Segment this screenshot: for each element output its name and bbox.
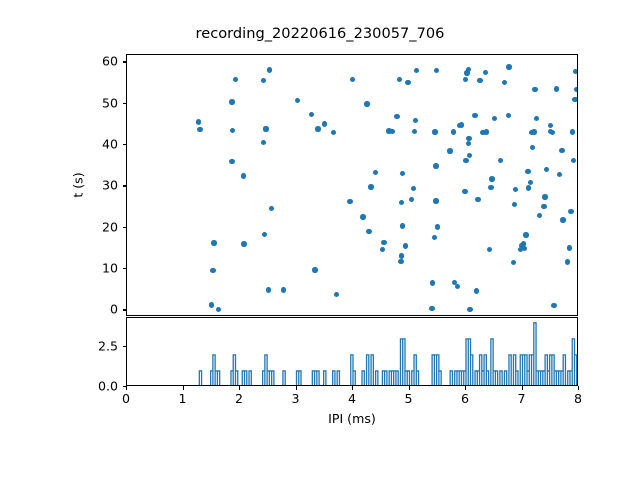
x-axis-tick-label: 1 (178, 391, 186, 406)
scatter-point (483, 70, 488, 75)
scatter-point (411, 186, 416, 191)
scatter-point (413, 118, 418, 123)
scatter-point (487, 247, 492, 252)
scatter-point (281, 287, 286, 292)
scatter-point (572, 97, 577, 102)
scatter-point (295, 98, 300, 103)
scatter-point (315, 126, 320, 131)
scatter-point (211, 240, 216, 245)
scatter-point (489, 176, 494, 181)
scatter-point (390, 129, 395, 134)
scatter-point (466, 67, 471, 72)
scatter-point (433, 163, 438, 168)
scatter-point (403, 243, 408, 248)
scatter-point (397, 77, 402, 82)
scatter-point (467, 307, 472, 312)
scatter-point (472, 113, 477, 118)
scatter-point (522, 246, 527, 251)
scatter-point (550, 130, 555, 135)
scatter-point (573, 69, 578, 74)
scatter-point (492, 116, 497, 121)
scatter-point (380, 247, 385, 252)
scatter-point (360, 214, 365, 219)
x-axis-tick-label: 4 (348, 391, 356, 406)
scatter-point (334, 292, 339, 297)
scatter-point (394, 114, 399, 119)
y-axis-tick-label: 20 (66, 219, 118, 234)
tick-mark (465, 386, 466, 390)
scatter-point (216, 307, 221, 312)
scatter-plot-axes (126, 54, 578, 316)
scatter-point (266, 287, 271, 292)
histogram-step-line (127, 318, 578, 386)
scatter-point (433, 198, 438, 203)
scatter-point (261, 140, 266, 145)
scatter-point (462, 189, 467, 194)
tick-mark (296, 386, 297, 390)
tick-mark (352, 386, 353, 390)
scatter-point (560, 217, 565, 222)
scatter-point (574, 87, 578, 92)
scatter-point (364, 101, 369, 106)
scatter-point (488, 185, 493, 190)
scatter-point (466, 136, 471, 141)
scatter-point (557, 172, 562, 177)
tick-mark (578, 386, 579, 390)
scatter-point (541, 204, 546, 209)
x-axis-label: IPI (ms) (328, 411, 376, 426)
scatter-point (463, 77, 468, 82)
scatter-point (350, 77, 355, 82)
scatter-point (559, 148, 564, 153)
scatter-point (400, 223, 405, 228)
scatter-point (502, 80, 507, 85)
y-axis-tick-label: 60 (66, 54, 118, 69)
tick-mark (183, 386, 184, 390)
scatter-point (459, 122, 464, 127)
x-axis-tick-label: 5 (404, 391, 412, 406)
scatter-point (312, 267, 317, 272)
scatter-point (542, 194, 547, 199)
y-axis-tick-label: 2.5 (66, 338, 118, 353)
y-axis-tick-label: 0.0 (66, 379, 118, 394)
tick-mark (123, 227, 127, 228)
scatter-point (430, 280, 435, 285)
scatter-point (571, 158, 576, 163)
tick-mark (123, 185, 127, 186)
scatter-point (467, 153, 472, 158)
scatter-point (398, 259, 403, 264)
scatter-point (241, 173, 246, 178)
scatter-point (269, 206, 274, 211)
scatter-point (241, 241, 246, 246)
scatter-point (229, 99, 234, 104)
scatter-point (233, 77, 238, 82)
scatter-point (567, 245, 572, 250)
scatter-point (551, 303, 556, 308)
scatter-point (267, 67, 272, 72)
scatter-point (429, 306, 434, 311)
scatter-point (532, 87, 537, 92)
scatter-point (412, 129, 417, 134)
scatter-point (400, 171, 405, 176)
scatter-point (477, 78, 482, 83)
scatter-point (434, 68, 439, 73)
scatter-point (474, 288, 479, 293)
scatter-point (451, 129, 456, 134)
scatter-point (528, 180, 533, 185)
x-axis-tick-label: 2 (235, 391, 243, 406)
scatter-point (347, 199, 352, 204)
scatter-point (373, 170, 378, 175)
y-axis-label: t (s) (71, 172, 86, 197)
tick-mark (409, 386, 410, 390)
scatter-point (537, 213, 542, 218)
tick-mark (123, 103, 127, 104)
scatter-point (447, 148, 452, 153)
tick-mark (123, 144, 127, 145)
scatter-point (463, 158, 468, 163)
scatter-point (368, 184, 373, 189)
scatter-point (262, 232, 267, 237)
scatter-point (432, 129, 437, 134)
scatter-point (530, 145, 535, 150)
tick-mark (126, 386, 127, 390)
tick-mark (239, 386, 240, 390)
scatter-point (230, 128, 235, 133)
scatter-point (525, 169, 530, 174)
scatter-point (512, 202, 517, 207)
y-axis-tick-label: 10 (66, 261, 118, 276)
scatter-point (197, 127, 202, 132)
tick-mark (123, 309, 127, 310)
y-axis-tick-label: 40 (66, 137, 118, 152)
scatter-point (554, 86, 559, 91)
tick-mark (123, 268, 127, 269)
scatter-point (475, 197, 480, 202)
x-axis-tick-label: 3 (291, 391, 299, 406)
scatter-point (498, 158, 503, 163)
x-axis-tick-label: 0 (122, 391, 130, 406)
scatter-point (565, 259, 570, 264)
scatter-point (506, 113, 511, 118)
scatter-point (399, 200, 404, 205)
scatter-point (568, 209, 573, 214)
scatter-point (435, 224, 440, 229)
scatter-point (534, 116, 539, 121)
scatter-point (513, 187, 518, 192)
matplotlib-figure: recording_20220616_230057_706 0102030405… (0, 0, 640, 480)
scatter-point (322, 121, 327, 126)
scatter-point (432, 235, 437, 240)
scatter-point (526, 185, 531, 190)
x-axis-tick-label: 7 (517, 391, 525, 406)
scatter-point (511, 260, 516, 265)
scatter-point (506, 64, 511, 69)
scatter-point (466, 141, 471, 146)
scatter-point (409, 197, 414, 202)
scatter-point (548, 123, 553, 128)
scatter-point (366, 229, 371, 234)
scatter-point (263, 126, 268, 131)
scatter-point (399, 253, 404, 258)
page-title: recording_20220616_230057_706 (0, 25, 640, 42)
scatter-point (570, 129, 575, 134)
y-axis-tick-label: 0 (66, 302, 118, 317)
x-axis-tick-label: 8 (574, 391, 582, 406)
scatter-point (381, 240, 386, 245)
scatter-point (196, 119, 201, 124)
scatter-point (523, 232, 528, 237)
scatter-point (414, 68, 419, 73)
scatter-point (531, 129, 536, 134)
scatter-point (405, 80, 410, 85)
y-axis-tick-label: 50 (66, 95, 118, 110)
histogram-axes (126, 317, 578, 386)
x-axis-tick-label: 6 (461, 391, 469, 406)
scatter-point (210, 268, 215, 273)
scatter-point (309, 112, 314, 117)
scatter-point (544, 167, 549, 172)
scatter-point (484, 129, 489, 134)
scatter-point (229, 159, 234, 164)
tick-mark (123, 346, 127, 347)
tick-mark (123, 61, 127, 62)
tick-mark (522, 386, 523, 390)
scatter-point (261, 78, 266, 83)
scatter-point (209, 302, 214, 307)
scatter-point (331, 130, 336, 135)
